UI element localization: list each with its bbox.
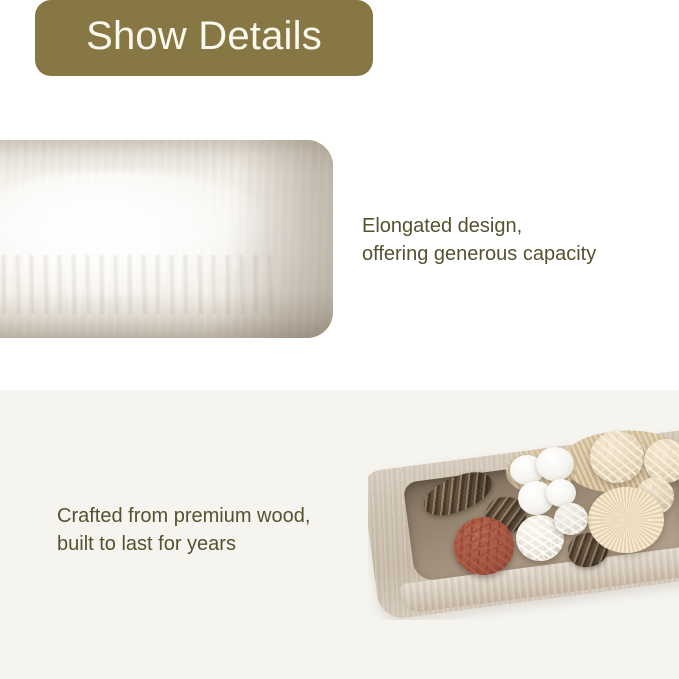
rattan-ball-rust [454, 517, 514, 575]
feature-caption-material: Crafted from premium wood, built to last… [57, 502, 377, 558]
page-title: Show Details [86, 16, 322, 56]
show-details-banner: Show Details [35, 0, 373, 76]
feature-capacity-line-1: Elongated design, [362, 212, 662, 240]
section-capacity: Show Details Elongated design, offering … [0, 0, 679, 390]
product-photo-tray-with-decor [368, 425, 679, 620]
feature-caption-capacity: Elongated design, offering generous capa… [362, 212, 662, 268]
product-detail-page: Show Details Elongated design, offering … [0, 0, 679, 679]
cotton-boll-2 [536, 447, 574, 481]
feature-material-line-2: built to last for years [57, 530, 377, 558]
feature-material-line-1: Crafted from premium wood, [57, 502, 377, 530]
tray-grain-shadow [0, 255, 279, 314]
rattan-ball-cream-1 [590, 431, 644, 483]
product-photo-tray-closeup [0, 140, 333, 338]
rattan-ball-white-2 [554, 503, 588, 535]
sola-flower [588, 487, 664, 553]
feature-capacity-line-2: offering generous capacity [362, 240, 662, 268]
